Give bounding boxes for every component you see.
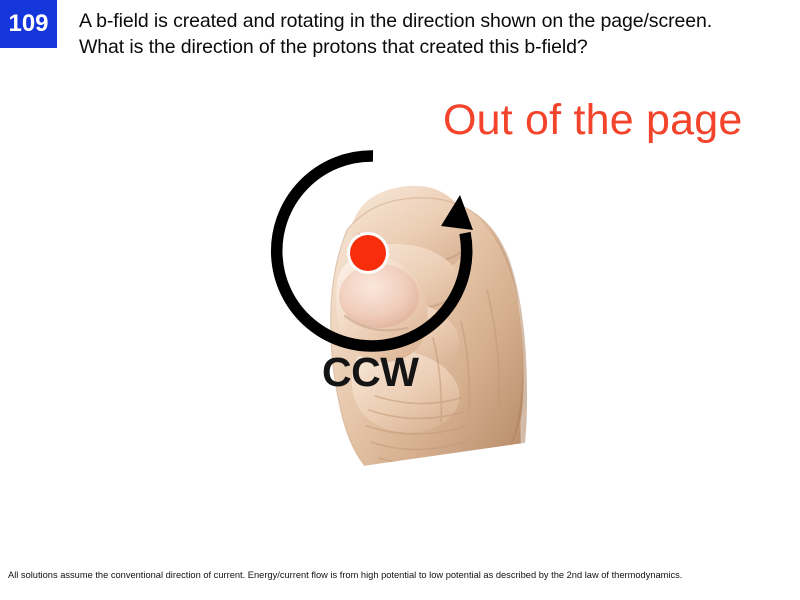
question-text: A b-field is created and rotating in the… — [79, 8, 751, 60]
slide-number-label: 109 — [8, 12, 48, 36]
slide-number-badge: 109 — [0, 0, 57, 48]
thumb-tip — [339, 264, 419, 328]
ccw-label: CCW — [322, 352, 418, 393]
hand-illustration — [255, 110, 545, 500]
footer-note: All solutions assume the conventional di… — [8, 570, 790, 582]
slide-canvas: 109 A b-field is created and rotating in… — [0, 0, 800, 600]
hand-photo — [255, 110, 545, 500]
